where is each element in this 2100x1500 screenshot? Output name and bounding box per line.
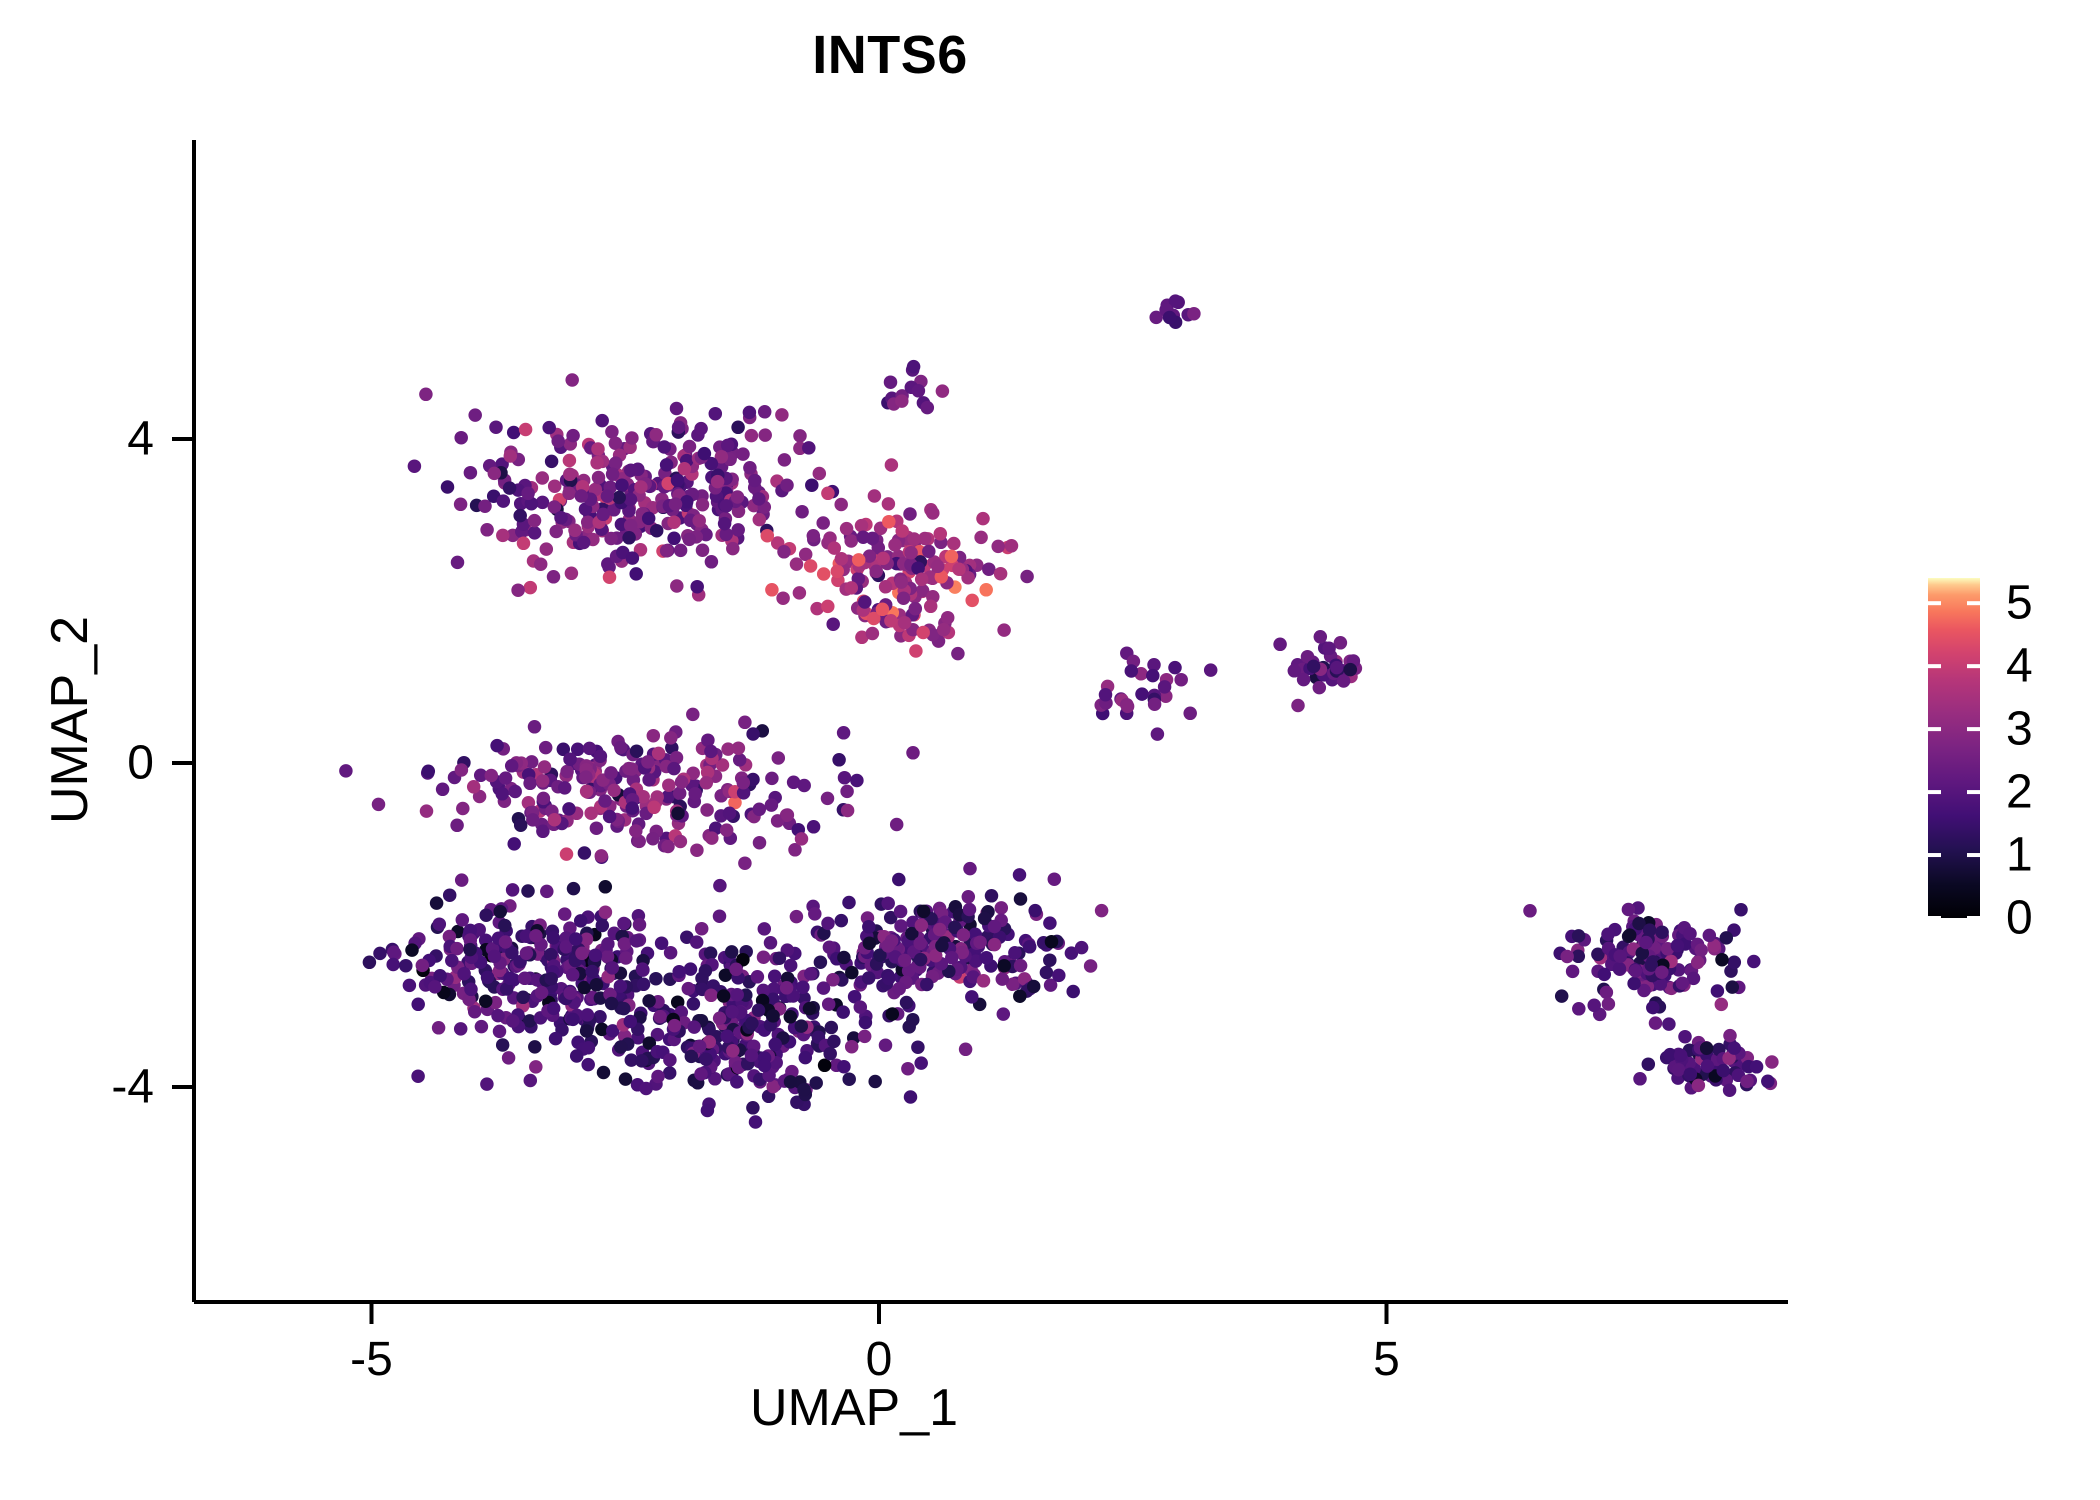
data-point: [1314, 630, 1328, 644]
data-point: [1598, 968, 1612, 982]
data-point: [814, 955, 828, 969]
data-point: [751, 970, 765, 984]
data-point: [408, 459, 422, 473]
data-point: [496, 1038, 510, 1052]
data-point: [777, 545, 791, 559]
data-point: [817, 981, 831, 995]
data-point: [637, 978, 651, 992]
data-point: [1183, 707, 1197, 721]
data-point: [670, 579, 684, 593]
data-point: [841, 804, 855, 818]
data-point: [686, 708, 700, 722]
data-point: [809, 1076, 823, 1090]
data-point: [589, 949, 603, 963]
data-point: [936, 384, 950, 398]
data-point: [1649, 1016, 1663, 1030]
data-point: [669, 497, 683, 511]
data-point: [1337, 674, 1351, 688]
data-point: [662, 778, 676, 792]
data-point: [503, 481, 516, 495]
data-point: [888, 538, 902, 552]
data-point: [540, 885, 554, 899]
data-point: [937, 623, 951, 637]
data-point: [745, 1049, 759, 1063]
data-point: [836, 1005, 850, 1019]
data-point: [995, 901, 1009, 915]
data-point: [855, 519, 869, 533]
data-point: [1052, 969, 1066, 983]
y-tick-label: -4: [0, 1060, 154, 1115]
data-point: [1678, 1030, 1692, 1044]
data-point: [667, 515, 681, 529]
data-point: [674, 544, 688, 558]
data-point: [544, 948, 558, 962]
data-point: [615, 478, 629, 492]
data-point: [962, 890, 976, 904]
data-point: [403, 979, 417, 993]
data-point: [682, 982, 696, 996]
data-point: [455, 873, 469, 887]
data-point: [1683, 927, 1697, 941]
data-point: [892, 873, 906, 887]
data-point: [1572, 1002, 1586, 1016]
data-point: [633, 918, 647, 932]
data-point: [758, 428, 772, 442]
data-point: [663, 1053, 677, 1067]
data-point: [713, 879, 727, 893]
data-point: [720, 499, 734, 513]
data-point: [997, 623, 1011, 637]
data-point: [548, 813, 562, 827]
data-point: [503, 972, 517, 986]
data-point: [886, 1007, 900, 1021]
data-point: [881, 939, 895, 953]
data-point: [580, 1024, 594, 1038]
data-point: [601, 489, 615, 503]
data-point: [818, 1059, 832, 1073]
data-point: [642, 994, 656, 1008]
data-point: [856, 530, 870, 544]
data-point: [699, 964, 713, 978]
data-point: [590, 978, 604, 992]
data-point: [566, 968, 580, 982]
data-point: [1633, 1072, 1647, 1086]
data-point: [709, 407, 723, 421]
data-point: [1307, 660, 1321, 674]
data-point: [850, 774, 864, 788]
data-point: [540, 542, 554, 556]
data-point: [568, 524, 582, 538]
data-point: [373, 947, 387, 961]
data-point: [764, 936, 778, 950]
data-point: [701, 1104, 715, 1118]
data-point: [630, 744, 644, 758]
data-point: [488, 950, 502, 964]
data-point: [1740, 1075, 1754, 1089]
data-point: [1613, 962, 1627, 976]
data-point: [1008, 946, 1022, 960]
data-point: [663, 1066, 677, 1080]
data-point: [1027, 980, 1041, 994]
data-point: [765, 772, 779, 786]
data-point: [456, 913, 470, 927]
data-point: [980, 951, 994, 965]
data-point: [766, 1009, 780, 1023]
data-point: [713, 909, 727, 923]
data-point: [965, 990, 979, 1004]
data-point: [1288, 664, 1302, 678]
data-point: [1662, 1017, 1676, 1031]
data-point: [1622, 903, 1636, 917]
data-point: [793, 429, 807, 443]
data-point: [690, 935, 704, 949]
data-point: [695, 922, 709, 936]
data-point: [485, 769, 499, 783]
data-point: [738, 856, 752, 870]
data-point: [821, 600, 835, 614]
data-point: [650, 524, 664, 538]
data-point: [884, 614, 898, 628]
data-point: [784, 1010, 798, 1024]
data-point: [1587, 999, 1601, 1013]
data-point: [684, 962, 698, 976]
data-point: [499, 771, 512, 785]
data-point: [1750, 1060, 1764, 1074]
data-point: [757, 950, 771, 964]
data-point: [649, 972, 663, 986]
data-point: [529, 1060, 543, 1074]
data-point: [696, 498, 710, 512]
data-point: [753, 803, 767, 817]
data-point: [454, 431, 468, 445]
data-point: [526, 813, 540, 827]
data-point: [441, 480, 455, 494]
colorbar-tick-label: 5: [2006, 576, 2033, 631]
data-point: [904, 1090, 918, 1104]
data-point: [590, 456, 604, 470]
data-point: [731, 523, 745, 537]
data-point: [765, 583, 779, 597]
data-point: [630, 934, 644, 948]
data-point: [1135, 687, 1149, 701]
data-point: [768, 1038, 782, 1052]
data-point: [898, 954, 912, 968]
data-point: [450, 942, 464, 956]
data-point: [1013, 989, 1027, 1003]
data-point: [914, 1056, 928, 1070]
data-point: [822, 997, 836, 1011]
data-point: [524, 1074, 538, 1088]
data-point: [694, 422, 708, 436]
data-point: [831, 565, 845, 579]
data-point: [1600, 986, 1614, 1000]
data-point: [1322, 642, 1336, 656]
data-point: [1344, 663, 1358, 677]
data-point: [574, 914, 588, 928]
data-point: [596, 508, 610, 522]
data-point: [511, 583, 525, 597]
data-point: [687, 997, 701, 1011]
data-point: [549, 1032, 563, 1046]
data-point: [520, 947, 534, 961]
data-point: [584, 806, 598, 820]
data-point: [579, 770, 593, 784]
data-point: [796, 980, 810, 994]
data-point: [493, 1025, 507, 1039]
data-point: [524, 581, 538, 595]
data-point: [731, 421, 745, 435]
data-point: [870, 565, 884, 579]
data-point: [876, 552, 890, 566]
data-point: [687, 1020, 701, 1034]
y-tick-label: 4: [0, 412, 154, 467]
data-point: [493, 905, 507, 919]
data-point: [772, 751, 786, 765]
data-point: [784, 959, 798, 973]
data-point: [840, 785, 854, 799]
data-point: [672, 965, 686, 979]
data-point: [508, 785, 522, 799]
data-point: [882, 497, 896, 511]
data-point: [1728, 956, 1742, 970]
data-point: [416, 959, 430, 973]
data-point: [606, 467, 620, 481]
data-point: [430, 896, 444, 910]
scatter-plot-canvas: [0, 0, 2100, 1500]
data-point: [977, 974, 991, 988]
data-point: [776, 591, 790, 605]
data-point: [704, 989, 718, 1003]
data-point: [1711, 984, 1725, 998]
data-point: [506, 1014, 520, 1028]
data-point: [1623, 928, 1637, 942]
data-point: [807, 820, 821, 834]
data-point: [565, 373, 579, 387]
data-point: [1627, 977, 1641, 991]
data-point: [598, 794, 612, 808]
data-point: [894, 905, 908, 919]
data-point: [468, 1005, 482, 1019]
data-point: [563, 454, 577, 468]
data-point: [456, 802, 470, 816]
data-point: [1099, 688, 1113, 702]
data-point: [419, 388, 433, 402]
data-point: [825, 1021, 839, 1035]
colorbar-tick-label: 4: [2006, 639, 2033, 694]
colorbar-tick-label: 1: [2006, 828, 2033, 883]
data-point: [521, 487, 535, 501]
data-point: [1075, 941, 1089, 955]
data-point: [915, 919, 929, 933]
data-point: [580, 785, 594, 799]
data-point: [988, 920, 1002, 934]
data-point: [617, 917, 631, 931]
data-point: [1066, 985, 1080, 999]
data-point: [537, 792, 551, 806]
data-point: [838, 771, 852, 785]
data-point: [558, 907, 572, 921]
data-point: [1146, 669, 1160, 683]
data-point: [901, 1062, 915, 1076]
data-point: [1014, 959, 1028, 973]
data-point: [823, 1047, 837, 1061]
data-point: [746, 727, 760, 741]
data-point: [979, 583, 993, 597]
data-point: [965, 594, 979, 608]
data-point: [1684, 1067, 1698, 1081]
data-point: [558, 781, 572, 795]
data-point: [808, 907, 822, 921]
data-point: [626, 551, 640, 565]
data-point: [499, 935, 513, 949]
data-point: [603, 810, 617, 824]
data-point: [605, 425, 619, 439]
data-point: [445, 954, 459, 968]
data-point: [680, 495, 694, 509]
data-point: [599, 905, 613, 919]
data-point: [909, 602, 923, 616]
data-point: [479, 908, 493, 922]
data-point: [528, 514, 542, 528]
data-point: [721, 742, 735, 756]
data-point: [852, 553, 866, 567]
data-point: [463, 943, 477, 957]
data-point: [1013, 868, 1027, 882]
data-point: [560, 847, 574, 861]
data-point: [842, 896, 856, 910]
data-point: [495, 787, 509, 801]
data-point: [931, 560, 945, 574]
data-point: [604, 532, 618, 546]
data-point: [534, 557, 548, 571]
data-point: [745, 429, 759, 443]
data-point: [468, 408, 482, 422]
data-point: [821, 487, 835, 501]
data-point: [803, 1002, 817, 1016]
data-point: [738, 716, 752, 730]
data-point: [1005, 539, 1019, 553]
data-point: [570, 1049, 584, 1063]
data-point: [595, 849, 609, 863]
data-point: [935, 939, 949, 953]
data-point: [605, 997, 619, 1011]
data-point: [591, 442, 605, 456]
data-point: [1676, 976, 1690, 990]
data-point: [884, 375, 898, 389]
colorbar-gradient: [1928, 578, 1980, 918]
data-point: [1723, 1083, 1737, 1097]
data-point: [651, 1070, 665, 1084]
data-point: [1734, 903, 1748, 917]
data-point: [536, 471, 550, 485]
data-point: [781, 808, 795, 822]
data-point: [551, 434, 565, 448]
data-point: [635, 1054, 649, 1068]
data-point: [868, 489, 882, 503]
data-point: [892, 982, 906, 996]
data-point: [1273, 638, 1287, 652]
umap-feature-plot: INTS6 UMAP_1 UMAP_2 -505 -404 012345: [0, 0, 2100, 1500]
data-point: [545, 455, 559, 469]
data-point: [625, 431, 639, 445]
data-point: [758, 1059, 772, 1073]
data-point: [885, 458, 899, 472]
data-point: [743, 406, 757, 420]
data-point: [922, 545, 936, 559]
data-point: [624, 1015, 638, 1029]
data-point: [411, 1069, 425, 1083]
data-point: [575, 489, 589, 503]
data-point: [480, 1077, 494, 1091]
data-point: [920, 978, 934, 992]
data-point: [804, 559, 818, 573]
data-point: [668, 1019, 682, 1033]
data-point: [583, 742, 597, 756]
data-point: [479, 994, 493, 1008]
data-point: [696, 543, 710, 557]
data-point: [797, 1083, 811, 1097]
data-point: [844, 534, 858, 548]
data-point: [513, 509, 527, 523]
data-point: [489, 420, 503, 434]
data-point: [629, 567, 643, 581]
data-point: [780, 478, 794, 492]
data-point: [661, 840, 675, 854]
data-point: [653, 1010, 667, 1024]
data-point: [1566, 965, 1580, 979]
data-point: [1646, 1001, 1660, 1015]
data-point: [658, 440, 672, 454]
data-point: [562, 487, 576, 501]
data-point: [858, 595, 872, 609]
data-point: [1629, 964, 1643, 978]
data-point: [957, 928, 971, 942]
data-point: [699, 1052, 713, 1066]
data-point: [562, 802, 576, 816]
data-point: [1655, 965, 1669, 979]
data-point: [827, 1035, 841, 1049]
data-point: [649, 428, 663, 442]
data-point: [790, 910, 804, 924]
data-point: [807, 529, 821, 543]
data-point: [1572, 929, 1586, 943]
data-point: [590, 821, 604, 835]
data-point: [862, 971, 876, 985]
data-point: [642, 773, 656, 787]
data-point: [529, 929, 543, 943]
data-point: [711, 475, 725, 489]
data-point: [517, 537, 531, 551]
data-point: [805, 478, 819, 492]
data-point: [690, 580, 704, 594]
data-point: [945, 550, 959, 564]
data-point: [625, 801, 639, 815]
data-point: [720, 823, 734, 837]
data-point: [683, 533, 697, 547]
data-point: [911, 1040, 925, 1054]
data-point: [1694, 943, 1708, 957]
y-tick-label: 0: [0, 736, 154, 791]
data-point: [994, 567, 1008, 581]
data-point: [629, 824, 643, 838]
data-point: [581, 1058, 595, 1072]
data-point: [821, 792, 835, 806]
data-point: [868, 1075, 882, 1089]
data-point: [607, 784, 621, 798]
data-point: [507, 837, 521, 851]
data-point: [758, 922, 772, 936]
data-point: [1163, 311, 1177, 325]
